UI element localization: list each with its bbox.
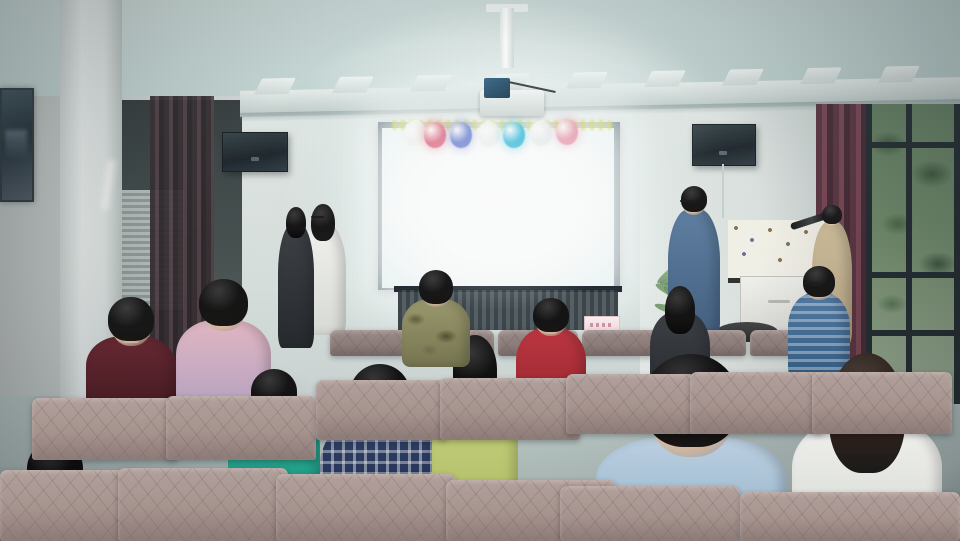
presenter-long-hair-torso [278,224,314,348]
projector-mount-pole [500,8,514,68]
balloon-white2 [478,121,500,147]
ceiling-light-8 [800,67,842,84]
cabinet-handle [768,300,790,303]
seat-12 [690,372,824,434]
ceiling-light-1 [254,78,296,95]
balloon-white [404,120,426,146]
balloon-pink [424,122,446,148]
seat-19 [740,492,960,541]
seat-15 [118,468,288,541]
balloon-cyan [503,122,525,148]
ceiling-light-5 [566,72,608,89]
photograph: 2015-05-24 19:22 [0,0,960,541]
speaker-denim-shirt-glasses [680,200,695,202]
window-mullion-vertical-3 [954,104,960,404]
seat-1 [330,330,410,356]
wall-speaker-right [692,124,756,166]
ceiling-light-6 [644,70,686,87]
audience-blue-stripe-glasses [803,282,821,284]
window-mullion-horizontal-3 [866,330,960,336]
seat-13 [812,372,952,434]
balloon-blue [450,122,472,148]
projection-screen [382,128,614,288]
audience-camo-shirt [402,272,470,367]
ceiling-light-7 [722,69,764,86]
ceiling-light-3 [410,75,452,92]
host-beige-dress-hair [822,205,842,224]
audience-camo-shirt-hair [419,270,453,304]
balloon-rose [556,119,578,145]
window-mullion-horizontal [866,142,960,148]
presenter-long-hair [278,208,314,348]
speaker-wire [722,164,724,218]
audience-lavender-top-hair [199,279,247,326]
balloon-pale [530,120,552,146]
audience-maroon-shirt-hair [108,297,153,341]
ceiling-light-9 [878,66,920,83]
audience-camo-shirt-torso [402,299,470,367]
wall-speaker-left [222,132,288,172]
seat-9 [316,380,446,440]
foliage-outside [868,104,960,344]
seat-7 [32,398,178,460]
projector-lens [484,78,510,98]
framed-picture [0,88,34,202]
seat-10 [440,378,580,440]
seat-8 [166,396,316,460]
seat-11 [566,374,696,434]
presenter-white-top-hair [311,204,334,241]
ceiling-light-2 [332,76,374,93]
seat-18 [560,486,740,541]
window-mullion-horizontal-2 [866,272,960,278]
audience-red-shirt-hair [533,298,568,333]
audience-maroon-shirt [86,300,176,410]
presenter-long-hair-hair [286,207,306,238]
seat-16 [276,474,456,541]
audience-ponytail-hair [665,286,696,334]
